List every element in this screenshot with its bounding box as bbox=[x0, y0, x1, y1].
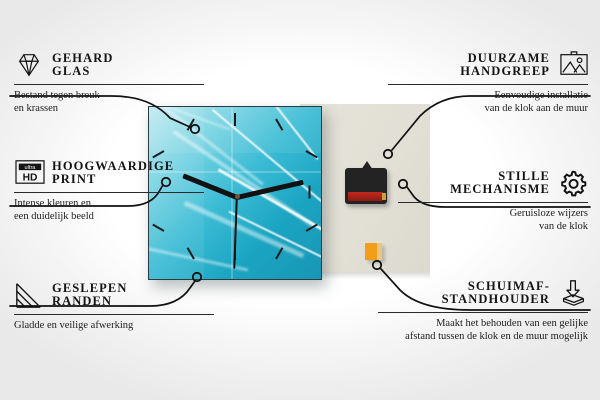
press-down-arrow-icon bbox=[558, 278, 588, 308]
feature-subtitle: Geruisloze wijzers van de klok bbox=[398, 207, 588, 234]
feature-divider bbox=[14, 192, 204, 193]
feature-divider bbox=[14, 314, 214, 315]
feature-divider bbox=[388, 84, 588, 85]
feature-title-line2: HANDGREEP bbox=[460, 65, 550, 78]
diagonal-lines-icon bbox=[14, 280, 44, 310]
feature-schuimafstandhouder: SCHUIMAF- STANDHOUDER Maakt het behouden… bbox=[378, 278, 588, 344]
feature-title-line2: GLAS bbox=[52, 65, 113, 78]
feature-title-line2: MECHANISME bbox=[450, 183, 550, 196]
feature-subtitle: Gladde en veilige afwerking bbox=[14, 319, 214, 332]
feature-gehard-glas: GEHARD GLAS Bestand tegen breuk en krass… bbox=[14, 50, 204, 116]
feature-divider bbox=[14, 84, 204, 85]
svg-text:HD: HD bbox=[23, 172, 38, 183]
feature-stille-mechanisme: STILLE MECHANISME Geruisloze wijzers van… bbox=[398, 168, 588, 234]
feature-subtitle: Eenvoudige installatie van de klok aan d… bbox=[388, 89, 588, 116]
feature-title-line2: STANDHOUDER bbox=[442, 293, 550, 306]
feature-geslepen-randen: GESLEPEN RANDEN Gladde en veilige afwerk… bbox=[14, 280, 214, 332]
feature-subtitle: Intense kleuren en een duidelijk beeld bbox=[14, 197, 204, 224]
ultra-hd-icon: ultra HD bbox=[14, 158, 44, 188]
gear-icon bbox=[558, 168, 588, 198]
picture-frame-icon bbox=[558, 50, 588, 80]
feature-duurzame-handgreep: DUURZAME HANDGREEP Eenvoudige installati… bbox=[388, 50, 588, 116]
feature-subtitle: Maakt het behouden van een gelijke afsta… bbox=[378, 317, 588, 344]
feature-title-line2: RANDEN bbox=[52, 295, 128, 308]
svg-text:ultra: ultra bbox=[25, 165, 37, 171]
feature-hoogwaardige-print: ultra HD HOOGWAARDIGE PRINT Intense kleu… bbox=[14, 158, 204, 224]
feature-title-line2: PRINT bbox=[52, 173, 174, 186]
infographic-canvas: GEHARD GLAS Bestand tegen breuk en krass… bbox=[0, 0, 600, 400]
feature-subtitle: Bestand tegen breuk en krassen bbox=[14, 89, 204, 116]
feature-divider bbox=[378, 312, 588, 313]
diamond-icon bbox=[14, 50, 44, 80]
feature-divider bbox=[398, 202, 588, 203]
